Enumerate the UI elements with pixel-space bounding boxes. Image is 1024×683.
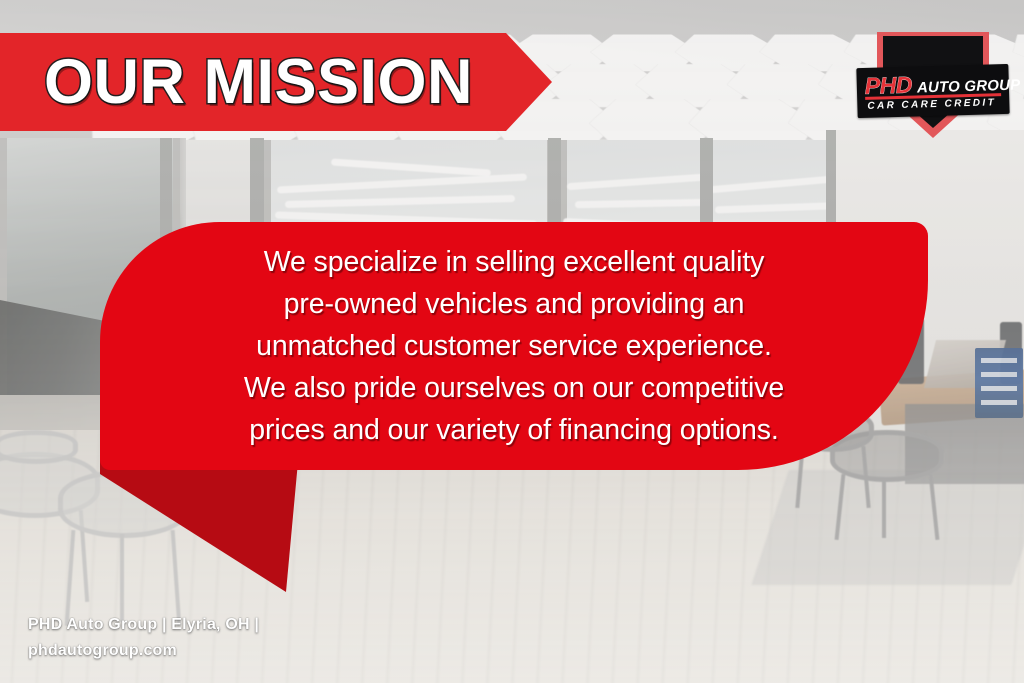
mission-statement-bubble: We specialize in selling excellent quali… <box>100 222 928 470</box>
brochure-display <box>975 348 1023 418</box>
footer-text: PHD Auto Group | Elyria, OH |phdautogrou… <box>28 616 259 659</box>
footer-contact: PHD Auto Group | Elyria, OH |phdautogrou… <box>28 612 368 664</box>
logo-nameplate: PHD AUTO GROUP CAR CARE CREDIT <box>856 64 1009 118</box>
logo-tagline: CAR CARE CREDIT <box>867 97 1001 112</box>
poster-canvas: OUR MISSION PHD AUTO GROUP CAR CARE CRED… <box>0 0 1024 683</box>
mission-statement-text: We specialize in selling excellent quali… <box>164 241 864 451</box>
page-title: OUR MISSION <box>44 51 473 114</box>
phd-auto-group-logo[interactable]: PHD AUTO GROUP CAR CARE CREDIT <box>855 28 1011 140</box>
side-table <box>0 430 84 500</box>
header-banner: OUR MISSION <box>0 33 552 131</box>
